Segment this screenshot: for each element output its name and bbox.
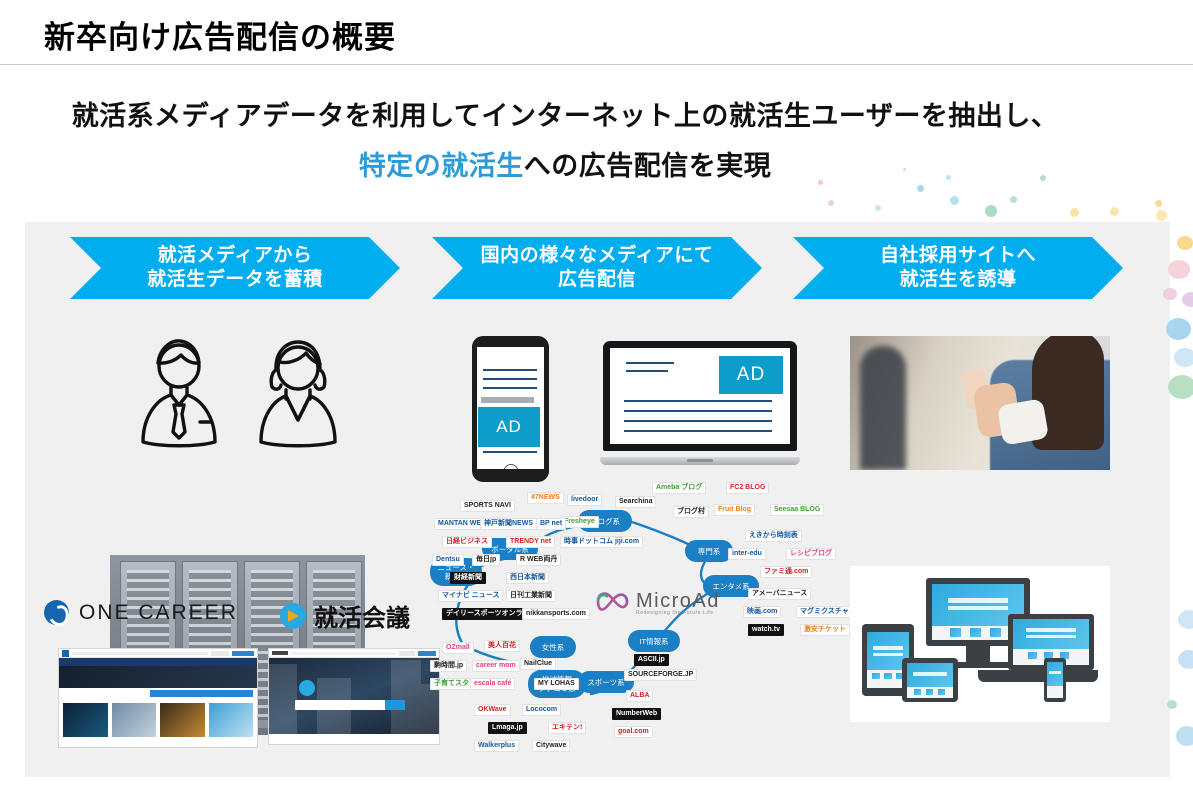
decor-dot [903,168,906,171]
microad-tagline: Redesigning the Future Life [636,610,714,616]
media-logo: 財経新聞 [450,572,486,584]
media-logo: NumberWeb [612,708,661,720]
media-logo: career mom [472,660,520,672]
people-icons-group [128,330,348,460]
media-logo: 西日本新聞 [506,572,549,584]
bubble-label: スポーツ系 [587,678,624,687]
decor-dot [1155,200,1162,207]
media-logo: R WEB両丹 [516,554,561,566]
screenshot-search-field [295,700,405,710]
media-logo: SOURCEFORGE.JP [624,669,697,681]
media-logo: Citywave [532,740,570,752]
media-logo: Seesaa BLOG [770,504,824,516]
screenshot-hero [59,666,257,688]
step-chevron-3[interactable]: 自社採用サイトへ 就活生を誘導 [793,237,1123,299]
media-logo: 日経ビジネス [442,536,492,548]
category-bubble-women[interactable]: 女性系 [530,636,576,658]
subtitle-line-1: 就活系メディアデータを利用してインターネット上の就活生ユーザーを抽出し、 [0,96,1130,138]
smartphone-screen: AD [477,347,544,469]
photo-responsive-devices [850,566,1110,722]
decor-circle [1178,610,1193,629]
bubble-label: 専門系 [698,547,721,556]
media-logo: レシピブログ [786,548,836,560]
decor-dot [828,200,834,206]
subtitle-highlight: 特定の就活生 [359,151,524,181]
decor-circle [1168,375,1193,399]
laptop-trackpad-notch [687,459,713,462]
subtitle-block: 就活系メディアデータを利用してインターネット上の就活生ユーザーを抽出し、 特定の… [0,96,1130,188]
person-male-icon [128,330,348,460]
photo-student-with-smartphone [850,336,1110,470]
media-logo: Walkerplus [474,740,519,752]
media-logo: SPORTS NAVI [460,500,515,512]
media-logo: Searchina [615,496,656,508]
media-logo: 日刊工業新聞 [506,590,556,602]
decor-dot [917,185,924,192]
media-logo: nikkansports.com [522,608,590,620]
media-logo: ファミ通.com [760,566,812,578]
media-logo: 神戸新聞NEWS [480,518,537,530]
media-logo: Lmaga.jp [488,722,527,734]
laptop-screen: AD [610,348,790,444]
decor-dot [1040,175,1046,181]
screenshot-hero [269,658,439,734]
decor-dot [1070,208,1079,217]
media-logo: TRENDY net [506,536,555,548]
media-logo: FC2 BLOG [726,482,769,494]
decor-circle [1177,236,1193,250]
decor-dot [1010,196,1017,203]
step-chevron-2[interactable]: 国内の様々なメディアにて 広告配信 [432,237,762,299]
decor-circle [1178,650,1193,669]
category-bubble-specialty[interactable]: 専門系 [685,540,733,562]
decor-circle [1163,288,1177,300]
title-divider [0,64,1193,65]
media-logo: escala café [470,678,515,690]
media-logo: OKWave [474,704,511,716]
logo-shukatsu-kaigi: 就活会議 [280,598,410,633]
media-logo: アメーバニュース [748,588,811,600]
laptop-ad-banner[interactable]: AD [719,356,783,394]
microad-mark-icon [595,588,629,614]
step-chevron-2-label: 国内の様々なメディアにて 広告配信 [481,244,714,293]
one-career-site-screenshot [58,648,258,748]
media-logo: Fruit Blog [714,504,755,516]
shukatsu-kaigi-mark-icon [280,603,306,629]
screenshot-topbar [269,649,439,658]
media-logo: ALBA [626,690,653,702]
subtitle-rest: への広告配信を実現 [524,151,772,181]
step-chevron-1[interactable]: 就活メディアから 就活生データを蓄積 [70,237,400,299]
media-logo: goal.com [614,726,653,738]
step-chevron-1-label: 就活メディアから 就活生データを蓄積 [147,244,323,293]
decor-circle [1168,260,1190,279]
media-logo: BP net [536,518,566,530]
logo-one-career: ONE CAREER [44,600,238,625]
decor-dot [875,205,881,211]
one-career-mark-icon [44,600,69,625]
media-logo: 美人百花 [484,640,520,652]
decor-circle [1182,292,1193,307]
laptop-lid: AD [603,341,797,451]
decor-dot [818,180,823,185]
media-logo: 激安チケット [800,624,850,636]
decor-dot [950,196,959,205]
decor-dot [985,205,997,217]
media-logo: 時事ドットコム jiji.com [560,536,643,548]
media-logo: エキテン! [548,722,586,734]
shukatsu-kaigi-site-screenshot [268,648,440,745]
bubble-label: IT情報系 [639,637,668,646]
microad-logo: MicroAd Redesigning the Future Life [595,588,720,614]
subtitle-line-2: 特定の就活生への広告配信を実現 [0,146,1130,188]
laptop-mockup: AD [600,341,800,471]
one-career-label: ONE CAREER [79,601,238,625]
media-logo: NailClue [520,658,556,670]
screenshot-topbar [59,649,257,658]
media-logo: Lococom [522,704,561,716]
smartphone-mockup: AD [472,336,549,482]
media-logo: OZmall [442,642,474,654]
media-logo: ASCII.jp [634,654,669,666]
decor-circle [1156,210,1167,221]
phone-home-button-icon [503,464,518,469]
screenshot-cards [59,699,257,741]
media-logo: watch.tv [748,624,784,636]
media-logo: えきから時刻表 [745,530,802,542]
screenshot-nav [59,658,257,666]
page-title: 新卒向け広告配信の概要 [44,12,396,57]
step-chevron-3-label: 自社採用サイトへ 就活生を誘導 [880,244,1036,293]
bubble-label: 女性系 [542,643,565,652]
screenshot-logo-icon [299,680,315,696]
media-logo: 47NEWS [527,492,564,504]
media-logo: マイナビ ニュース [438,590,503,602]
media-logo: 毎日jp [472,554,500,566]
media-logo: 駒時間.jp [430,660,467,672]
decor-dot [1110,207,1119,216]
media-logo: inter-edu [728,548,766,560]
shukatsu-kaigi-label: 就活会議 [314,598,410,633]
decor-circle [1176,726,1193,746]
media-logo: livedoor [567,494,602,506]
decor-circle [1166,318,1191,340]
media-logo: Dentsu [432,554,464,566]
phone-ad-banner[interactable]: AD [478,407,540,447]
media-logo: 映画.com [743,606,781,618]
media-logo: MY LOHAS [534,678,579,690]
microad-network-diagram: ブログ系 ポータル系 ニュース・ 新聞系 専門系 エンタメ系 IT情報系 スポー… [430,478,860,773]
media-logo: ブログ村 [673,506,709,518]
decor-dot [946,175,951,180]
decor-circle [1167,700,1177,709]
media-logo: Ameba ブログ [652,482,706,494]
decor-circle [1174,348,1193,367]
category-bubble-it[interactable]: IT情報系 [628,630,680,652]
